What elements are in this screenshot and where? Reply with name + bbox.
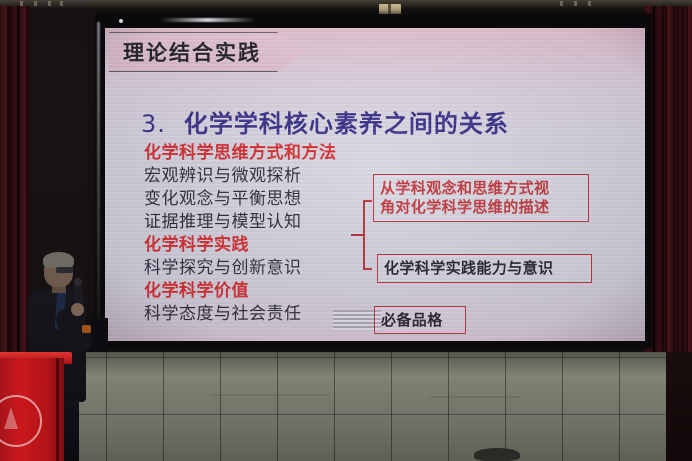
curtain-fold (677, 6, 679, 354)
tile-wall-shading (0, 352, 692, 461)
curtain-fold (17, 6, 19, 354)
curly-brace-connector (351, 198, 373, 272)
presenter-pocket-item (82, 325, 91, 333)
curtain-fold (7, 6, 9, 354)
presenter-hand (71, 303, 84, 316)
left-text-column: 化学科学思维方式和方法 宏观辨识与微观探析 变化观念与平衡思想 证据推理与模型认… (144, 142, 374, 326)
brace-bottom-arm (363, 268, 372, 270)
curtain-fold (686, 6, 688, 354)
callout-box-3: 必备品格 (374, 306, 466, 334)
foreground-object (474, 448, 520, 461)
podium-side-edge (56, 358, 59, 461)
presenter-glasses (56, 267, 73, 273)
ceiling-speck (560, 1, 563, 6)
slide-banner: 理论结合实践 (109, 32, 306, 72)
slide-title-number: 3. (141, 110, 166, 138)
curtain-fold (665, 6, 667, 354)
slide-title: 3.化学学科核心素养之间的关系 (141, 104, 509, 139)
left-line-2: 宏观辨识与微观探析 (144, 165, 374, 188)
screen-edge-reflection (97, 22, 100, 322)
callout-box-1-line-1: 从学科观念和思维方式视 (374, 179, 588, 198)
left-line-1: 化学科学思维方式和方法 (144, 142, 374, 165)
left-line-6: 科学探究与创新意识 (144, 257, 374, 280)
right-wall-sliver (666, 352, 692, 461)
ceiling-speck (34, 1, 37, 6)
ceiling-speck (60, 1, 63, 6)
curtain-fold (653, 6, 655, 354)
brace-top-arm (363, 200, 372, 202)
brace-connector-stub (351, 234, 364, 236)
projected-slide: 理论结合实践 3.化学学科核心素养之间的关系 化学科学思维方式和方法 宏观辨识与… (105, 28, 645, 341)
left-line-7: 化学科学价值 (144, 280, 374, 303)
left-line-3: 变化观念与平衡思想 (144, 188, 374, 211)
left-line-4: 证据推理与模型认知 (144, 211, 374, 234)
callout-box-1: 从学科观念和思维方式视 角对化学科学思维的描述 (373, 174, 589, 222)
ceiling-speck (48, 1, 51, 6)
screen-glare (160, 18, 255, 22)
slide-title-text: 化学学科核心素养之间的关系 (184, 110, 509, 138)
classroom-scene: 理论结合实践 3.化学学科核心素养之间的关系 化学科学思维方式和方法 宏观辨识与… (0, 0, 692, 461)
slide-banner-label: 理论结合实践 (109, 37, 261, 67)
callout-box-2-line-1: 化学科学实践能力与意识 (378, 259, 591, 278)
callout-box-3-line-1: 必备品格 (375, 311, 465, 330)
callout-box-1-line-2: 角对化学科学思维的描述 (374, 198, 588, 217)
screen-highlight-dot (119, 19, 123, 23)
ceiling-speck (574, 1, 577, 6)
presenter-hair (43, 252, 74, 268)
ceiling-speck (588, 1, 591, 6)
left-line-5: 化学科学实践 (144, 234, 374, 257)
callout-box-2: 化学科学实践能力与意识 (377, 254, 592, 283)
tiled-wall (0, 352, 692, 461)
